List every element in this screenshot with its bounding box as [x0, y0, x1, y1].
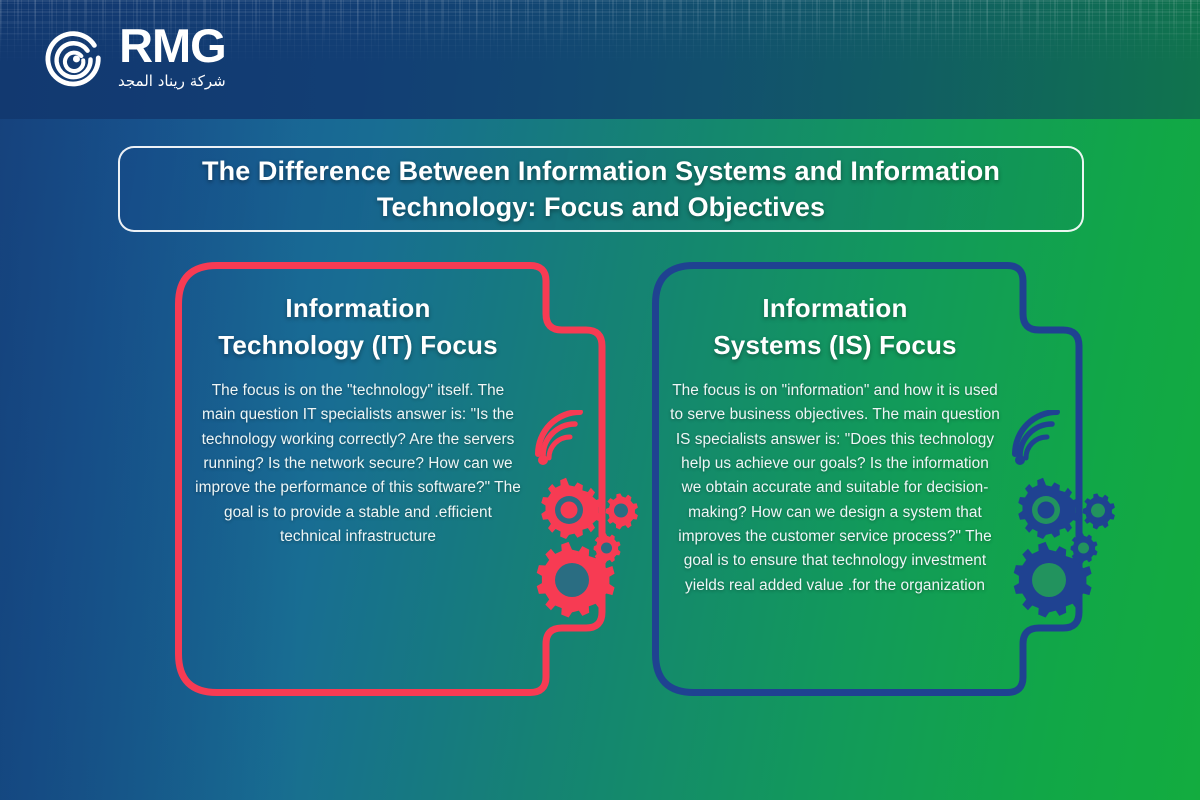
card-body-it: The focus is on the "technology" itself.…: [193, 379, 523, 549]
card-information-technology: Information Technology (IT) Focus The fo…: [175, 262, 607, 696]
card-body-is: The focus is on "information" and how it…: [670, 379, 1000, 598]
gear-large-icon: [541, 478, 602, 539]
card-heading-it: Information Technology (IT) Focus: [193, 290, 523, 365]
card-text-block-it: Information Technology (IT) Focus The fo…: [193, 290, 523, 549]
brand-logo[interactable]: RMG شركة ريناد المجد: [44, 24, 226, 90]
card-heading-line2-it: Technology (IT) Focus: [218, 330, 498, 360]
wifi-signal-icon: [538, 412, 580, 465]
card-text-block-is: Information Systems (IS) Focus The focus…: [670, 290, 1000, 598]
card-information-systems: Information Systems (IS) Focus The focus…: [652, 262, 1084, 696]
rmg-spiral-logo-icon: [44, 26, 106, 88]
icon-cluster-it: [530, 410, 645, 625]
card-heading-line1-it: Information: [285, 293, 430, 323]
gear-small-icon: [606, 493, 638, 529]
gear-small-icon: [1083, 493, 1115, 529]
gear-large-icon: [1018, 478, 1079, 539]
icon-cluster-is: [1007, 410, 1122, 625]
brand-name: RMG: [119, 24, 226, 69]
page-title: The Difference Between Information Syste…: [142, 153, 1060, 225]
wifi-signal-icon: [1015, 412, 1057, 465]
brand-arabic-name: شركة ريناد المجد: [118, 72, 226, 90]
card-heading-line2-is: Systems (IS) Focus: [713, 330, 956, 360]
logo-text-block: RMG شركة ريناد المجد: [118, 24, 226, 90]
infographic-canvas: RMG شركة ريناد المجد The Difference Betw…: [0, 0, 1200, 800]
card-heading-is: Information Systems (IS) Focus: [670, 290, 1000, 365]
card-heading-line1-is: Information: [762, 293, 907, 323]
page-title-box: The Difference Between Information Syste…: [118, 146, 1084, 232]
